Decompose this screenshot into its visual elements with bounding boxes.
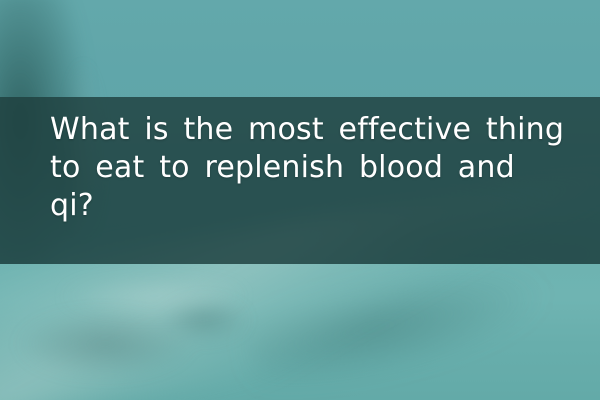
water-foam-highlight bbox=[0, 268, 280, 338]
caption-question-text: What is the most effective thing to eat … bbox=[50, 111, 570, 225]
screenshot-root: What is the most effective thing to eat … bbox=[0, 0, 600, 400]
caption-overlay-band: What is the most effective thing to eat … bbox=[0, 97, 600, 264]
